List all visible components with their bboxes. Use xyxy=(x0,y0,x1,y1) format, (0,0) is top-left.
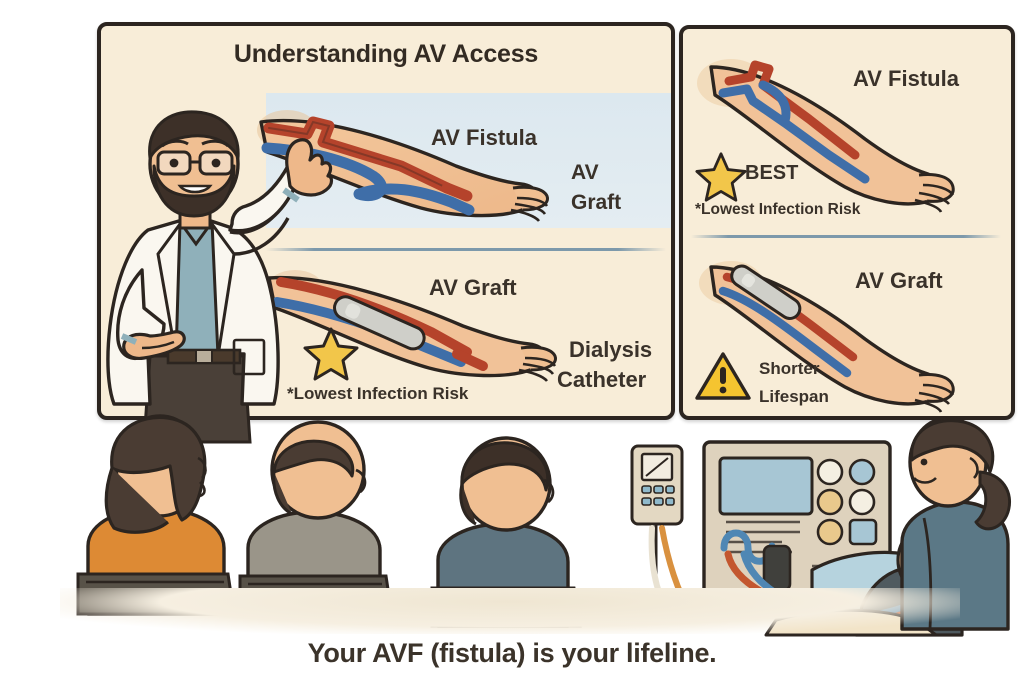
floor-wash xyxy=(60,588,960,634)
presenter-doctor xyxy=(84,104,314,444)
star-note-lowest-infection-risk: *Lowest Infection Risk xyxy=(287,384,468,404)
warning-triangle-icon xyxy=(695,351,751,401)
badge-best: BEST xyxy=(745,162,798,185)
illustration-canvas: Understanding AV Access AV Fistula AV xyxy=(0,0,1024,683)
bottom-caption: Your AVF (fistula) is your lifeline. xyxy=(0,638,1024,669)
warning-note-line2: Lifespan xyxy=(759,387,829,407)
label-av-graft-right-line2: Graft xyxy=(571,192,621,214)
board-divider xyxy=(266,248,666,251)
label-dialysis-catheter-line1: Dialysis xyxy=(569,338,652,361)
side-comparison-board: AV Fistula BEST *Lowest Infection Risk A… xyxy=(679,25,1015,420)
side-label-av-graft: AV Graft xyxy=(855,269,943,292)
label-dialysis-catheter-line2: Catheter xyxy=(557,368,646,391)
side-label-av-fistula: AV Fistula xyxy=(853,67,959,90)
warning-note-line1: Shorter xyxy=(759,359,819,379)
label-av-fistula: AV Fistula xyxy=(431,126,537,149)
side-note-lowest-infection-risk: *Lowest Infection Risk xyxy=(695,201,860,219)
star-icon xyxy=(695,151,747,203)
audience-member-2 xyxy=(240,420,440,616)
board-title: Understanding AV Access xyxy=(101,40,671,69)
label-av-graft-mid: AV Graft xyxy=(429,276,517,299)
side-board-divider xyxy=(691,235,1001,238)
label-av-graft-right-line1: AV xyxy=(571,162,599,184)
